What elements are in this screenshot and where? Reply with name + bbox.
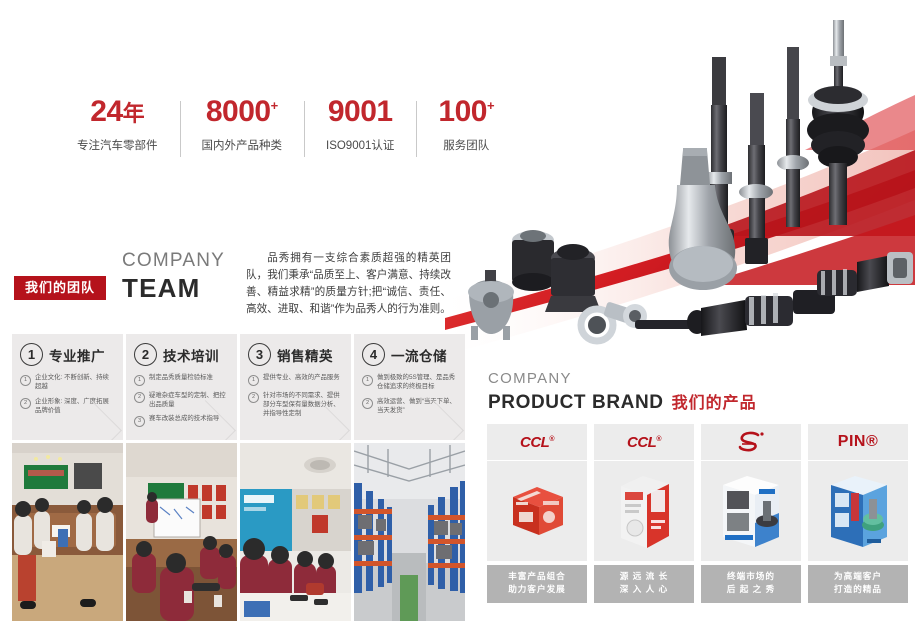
- card-header: 2 技术培训: [134, 343, 229, 366]
- card-number: 4: [362, 343, 385, 366]
- caption-line-2: 助力客户发展: [489, 583, 585, 596]
- card-number: 1: [20, 343, 43, 366]
- bullet-text: 企业文化: 不断创新、持续超越: [35, 373, 115, 392]
- sales-team-photo: [240, 443, 351, 621]
- caption-line-1: 丰富产品组合: [489, 570, 585, 583]
- card-header: 3 销售精英: [248, 343, 343, 366]
- training-whiteboard-photo: [126, 443, 237, 621]
- brand-heading-main: PRODUCT BRAND我们的产品: [488, 389, 757, 414]
- brand-heading-cn: 我们的产品: [672, 395, 757, 412]
- team-card[interactable]: 1 专业推广 1 企业文化: 不断创新、持续超越 2 企业形象: 深度、广度拓展…: [12, 334, 123, 440]
- bullet-number: 3: [134, 416, 145, 427]
- stat-label: 服务团队: [438, 137, 494, 153]
- stats-row: 24年 专注汽车零部件 8000+ 国内外产品种类 9001 ISO9001认证…: [55, 95, 516, 153]
- brand-logo-ccl: CCL®: [487, 424, 587, 460]
- card-title: 销售精英: [277, 345, 333, 365]
- product-box-image: [808, 461, 908, 561]
- brand-logo-ccl: CCL®: [594, 424, 694, 460]
- product-caption: 终端市场的 后 起 之 秀: [701, 565, 801, 603]
- bullet-text: 提供专业、高效的产品服务: [263, 373, 340, 386]
- card-header: 4 一流仓储: [362, 343, 457, 366]
- stat-label: 国内外产品种类: [202, 137, 283, 153]
- bullet-text: 制定品秀质量检验标准: [149, 373, 213, 386]
- brand-heading-en: PRODUCT BRAND: [488, 392, 664, 413]
- card-header: 1 专业推广: [20, 343, 115, 366]
- team-photos: [12, 443, 465, 621]
- team-card[interactable]: 2 技术培训 1 制定品秀质量检验标准 2 疑难杂症车型的定制、把控出品质量 3…: [126, 334, 237, 440]
- team-heading-team: TEAM: [122, 273, 225, 304]
- company-profile-page: 24年 专注汽车零部件 8000+ 国内外产品种类 9001 ISO9001认证…: [0, 0, 915, 625]
- bullet-number: 2: [362, 398, 373, 409]
- team-english-heading: COMPANY TEAM: [122, 250, 225, 304]
- stat-number: 24年: [77, 95, 158, 128]
- product-box-image: [701, 461, 801, 561]
- team-card[interactable]: 3 销售精英 1 提供专业、高效的产品服务 2 针对市场的不同需求、提供部分车型…: [240, 334, 351, 440]
- card-bullet: 2 疑难杂症车型的定制、把控出品质量: [134, 391, 229, 410]
- card-title: 技术培训: [163, 345, 219, 365]
- stat-item: 100+ 服务团队: [416, 95, 516, 153]
- stat-number: 9001: [326, 95, 394, 128]
- brand-section-heading: COMPANY PRODUCT BRAND我们的产品: [488, 370, 757, 414]
- caption-line-2: 深 入 人 心: [596, 583, 692, 596]
- caption-line-1: 终端市场的: [703, 570, 799, 583]
- bullet-number: 2: [20, 398, 31, 409]
- brand-logo-pin: PIN®: [808, 424, 908, 460]
- team-description: 品秀拥有一支综合素质超强的精英团队，我们秉承“品质至上、客户满意、持续改善、精益…: [246, 250, 451, 319]
- brand-logo-script: [701, 424, 801, 460]
- product-card[interactable]: CCL® 丰富产品组合 助力客户发展: [487, 424, 587, 603]
- meeting-room-photo: [12, 443, 123, 621]
- brand-heading-company: COMPANY: [488, 370, 757, 387]
- caption-line-1: 为高端客户: [810, 570, 906, 583]
- ccl-logo-icon: CCL®: [627, 434, 661, 451]
- bullet-number: 1: [362, 375, 373, 386]
- bullet-number: 2: [134, 392, 145, 403]
- bullet-text: 做到极致的5S管理、是品秀仓储追求的终极目标: [377, 373, 457, 392]
- stat-label: 专注汽车零部件: [77, 137, 158, 153]
- team-cards: 1 专业推广 1 企业文化: 不断创新、持续超越 2 企业形象: 深度、广度拓展…: [12, 334, 465, 440]
- warehouse-photo: [354, 443, 465, 621]
- product-caption: 丰富产品组合 助力客户发展: [487, 565, 587, 603]
- card-title: 专业推广: [49, 345, 105, 365]
- caption-line-1: 源 远 流 长: [596, 570, 692, 583]
- team-heading-company: COMPANY: [122, 250, 225, 272]
- team-section-heading: 我们的团队 COMPANY TEAM: [14, 250, 244, 312]
- stat-item: 9001 ISO9001认证: [304, 95, 416, 153]
- bullet-number: 2: [248, 392, 259, 403]
- caption-line-2: 打造的精品: [810, 583, 906, 596]
- stat-label: ISO9001认证: [326, 137, 394, 153]
- bullet-number: 1: [248, 375, 259, 386]
- product-brand-list: CCL® 丰富产品组合 助力客户发展: [487, 424, 908, 603]
- stat-number: 8000+: [202, 95, 283, 128]
- card-bullet: 1 企业文化: 不断创新、持续超越: [20, 373, 115, 392]
- card-bullet: 1 制定品秀质量检验标准: [134, 373, 229, 386]
- product-box-image: [594, 461, 694, 561]
- caption-line-2: 后 起 之 秀: [703, 583, 799, 596]
- stat-item: 24年 专注汽车零部件: [55, 95, 180, 153]
- stat-number: 100+: [438, 95, 494, 128]
- product-caption: 源 远 流 长 深 入 人 心: [594, 565, 694, 603]
- bullet-text: 疑难杂症车型的定制、把控出品质量: [149, 391, 229, 410]
- product-caption: 为高端客户 打造的精品: [808, 565, 908, 603]
- product-card[interactable]: 终端市场的 后 起 之 秀: [701, 424, 801, 603]
- hero-product-artwork: [445, 0, 915, 370]
- card-bullet: 1 提供专业、高效的产品服务: [248, 373, 343, 386]
- product-card[interactable]: CCL® 源 远 流 长 深 入 人: [594, 424, 694, 603]
- card-number: 3: [248, 343, 271, 366]
- ccl-logo-icon: CCL®: [520, 434, 554, 451]
- bullet-number: 1: [134, 375, 145, 386]
- stat-item: 8000+ 国内外产品种类: [180, 95, 305, 153]
- product-box-image: [487, 461, 587, 561]
- team-badge: 我们的团队: [14, 276, 106, 300]
- product-card[interactable]: PIN® 为高端客户 打造的精品: [808, 424, 908, 603]
- bullet-number: 1: [20, 375, 31, 386]
- card-number: 2: [134, 343, 157, 366]
- script-logo-icon: [736, 430, 766, 454]
- pin-logo-icon: PIN®: [838, 433, 878, 451]
- card-bullet: 1 做到极致的5S管理、是品秀仓储追求的终极目标: [362, 373, 457, 392]
- team-card[interactable]: 4 一流仓储 1 做到极致的5S管理、是品秀仓储追求的终极目标 2 高效运营、做…: [354, 334, 465, 440]
- card-title: 一流仓储: [391, 345, 447, 365]
